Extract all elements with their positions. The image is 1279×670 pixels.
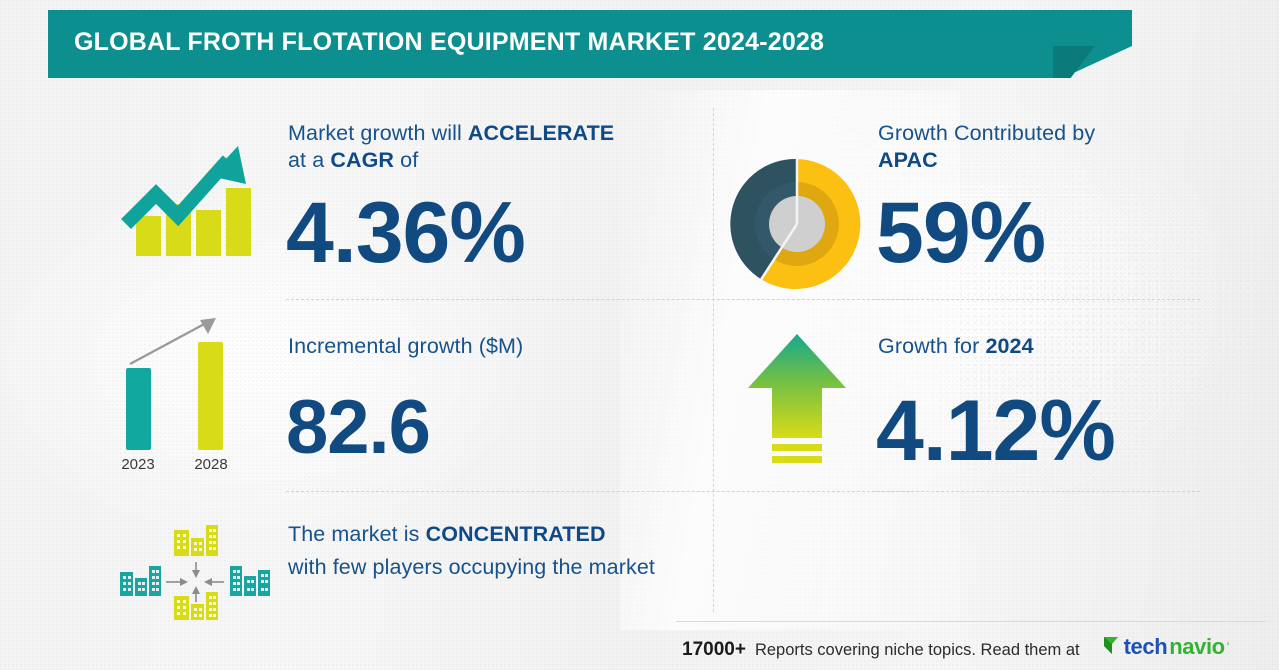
footer: 17000+ Reports covering niche topics. Re… (682, 634, 1230, 661)
cagr-lede-part3: of (394, 148, 418, 172)
growth-2024-value: 4.12% (876, 388, 1115, 474)
divider-vertical (713, 108, 714, 612)
cagr-lede-part2: at a (288, 148, 330, 172)
technavio-logo[interactable]: technavio˚ (1103, 634, 1230, 660)
growth-arrow-bars-icon (118, 132, 262, 260)
growth-2024-lede: Growth for 2024 (878, 333, 1198, 360)
growth-2024-lede-part1: Growth for (878, 334, 985, 358)
apac-lede-part1: Growth Contributed by (878, 121, 1095, 145)
infographic-canvas: GLOBAL FROTH FLOTATION EQUIPMENT MARKET … (0, 0, 1279, 670)
technavio-logo-navio: navio (1169, 634, 1224, 660)
cagr-lede-cagr: CAGR (330, 148, 394, 172)
cagr-lede-accelerate: ACCELERATE (468, 121, 614, 145)
concentration-lede-bold: CONCENTRATED (426, 522, 606, 546)
cagr-lede: Market growth will ACCELERATE at a CAGR … (288, 120, 688, 174)
svg-text:2028: 2028 (194, 456, 227, 473)
divider-right-1 (876, 299, 1200, 300)
footer-report-count: 17000+ (682, 639, 746, 661)
footer-text: Reports covering niche topics. Read them… (755, 641, 1080, 660)
technavio-logo-tech: tech (1124, 634, 1168, 660)
incremental-growth-label: Incremental growth ($M) (288, 333, 688, 360)
market-concentration-buildings-icon (112, 518, 278, 624)
divider-left-1 (286, 299, 910, 300)
page-title: GLOBAL FROTH FLOTATION EQUIPMENT MARKET … (74, 28, 824, 57)
svg-text:2023: 2023 (121, 456, 154, 473)
divider-left-2 (286, 491, 910, 492)
apac-lede: Growth Contributed by APAC (878, 120, 1198, 174)
donut-chart-icon (728, 155, 866, 293)
up-arrow-icon (742, 330, 852, 470)
growth-2024-year: 2024 (985, 334, 1033, 358)
apac-value: 59% (876, 190, 1045, 276)
concentration-lede-part1: The market is (288, 522, 426, 546)
bar-comparison-icon: 2023 2028 (104, 306, 274, 481)
technavio-logo-mark (1103, 634, 1120, 660)
incremental-growth-value: 82.6 (286, 390, 430, 466)
concentration-lede: The market is CONCENTRATED with few play… (288, 518, 678, 584)
apac-lede-region: APAC (878, 148, 938, 172)
technavio-logo-tm: ˚ (1227, 642, 1230, 652)
footer-divider (676, 621, 1266, 622)
divider-right-2 (876, 491, 1200, 492)
cagr-value: 4.36% (286, 190, 525, 276)
concentration-lede-part2: with few players occupying the market (288, 555, 655, 579)
cagr-lede-part1: Market growth will (288, 121, 468, 145)
